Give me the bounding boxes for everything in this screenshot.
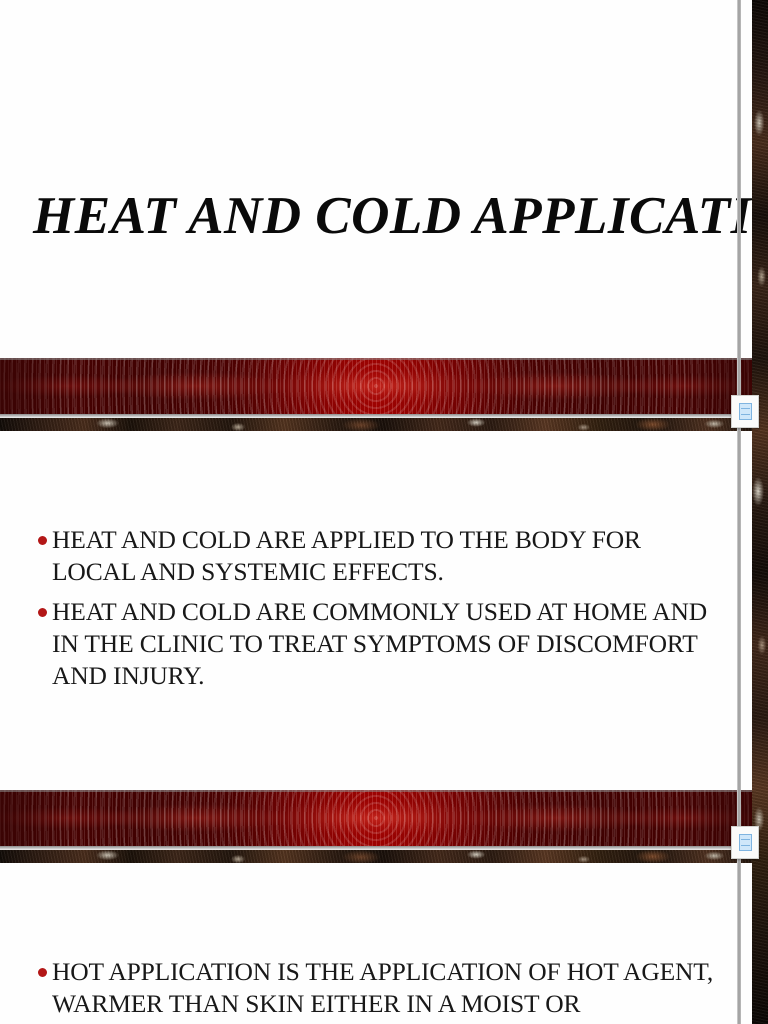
banner-edge-vignette: [0, 790, 752, 846]
slide-2-bullet-list: HEAT AND COLD ARE APPLIED TO THE BODY FO…: [34, 524, 714, 700]
list-item: HEAT AND COLD ARE COMMONLY USED AT HOME …: [34, 596, 714, 692]
page-edge-rail[interactable]: [737, 0, 741, 1024]
slide-2[interactable]: HEAT AND COLD ARE APPLIED TO THE BODY FO…: [0, 431, 752, 850]
page-number-badge[interactable]: [731, 395, 759, 428]
rock-grain-overlay: [0, 850, 768, 863]
red-banner-graphic: [0, 358, 752, 414]
list-item: HEAT AND COLD ARE APPLIED TO THE BODY FO…: [34, 524, 714, 588]
rock-texture-divider-1: [0, 418, 768, 431]
slide-3-bullet-list: HOT APPLICATION IS THE APPLICATION OF HO…: [34, 956, 714, 1024]
document-canvas[interactable]: HEAT AND COLD APPLICATION HEAT AND COLD …: [0, 0, 768, 1024]
page-title: HEAT AND COLD APPLICATION: [33, 186, 723, 246]
slide-1[interactable]: HEAT AND COLD APPLICATION: [0, 0, 752, 418]
slide-3[interactable]: HOT APPLICATION IS THE APPLICATION OF HO…: [0, 863, 752, 1024]
rock-grain-overlay: [0, 418, 768, 431]
page-number-badge[interactable]: [731, 826, 759, 859]
banner-top-rule: [0, 790, 752, 792]
banner-top-rule: [0, 358, 752, 360]
page-placeholder-icon: [739, 403, 752, 420]
banner-edge-vignette: [0, 358, 752, 414]
red-banner-graphic: [0, 790, 752, 846]
rock-grain-overlay: [752, 0, 768, 1024]
page-placeholder-icon: [739, 834, 752, 851]
slide-1-banner: [0, 352, 752, 418]
rock-texture-border-right: [752, 0, 768, 1024]
rock-texture-divider-2: [0, 850, 768, 863]
slide-2-banner: [0, 784, 752, 850]
list-item: HOT APPLICATION IS THE APPLICATION OF HO…: [34, 956, 714, 1020]
